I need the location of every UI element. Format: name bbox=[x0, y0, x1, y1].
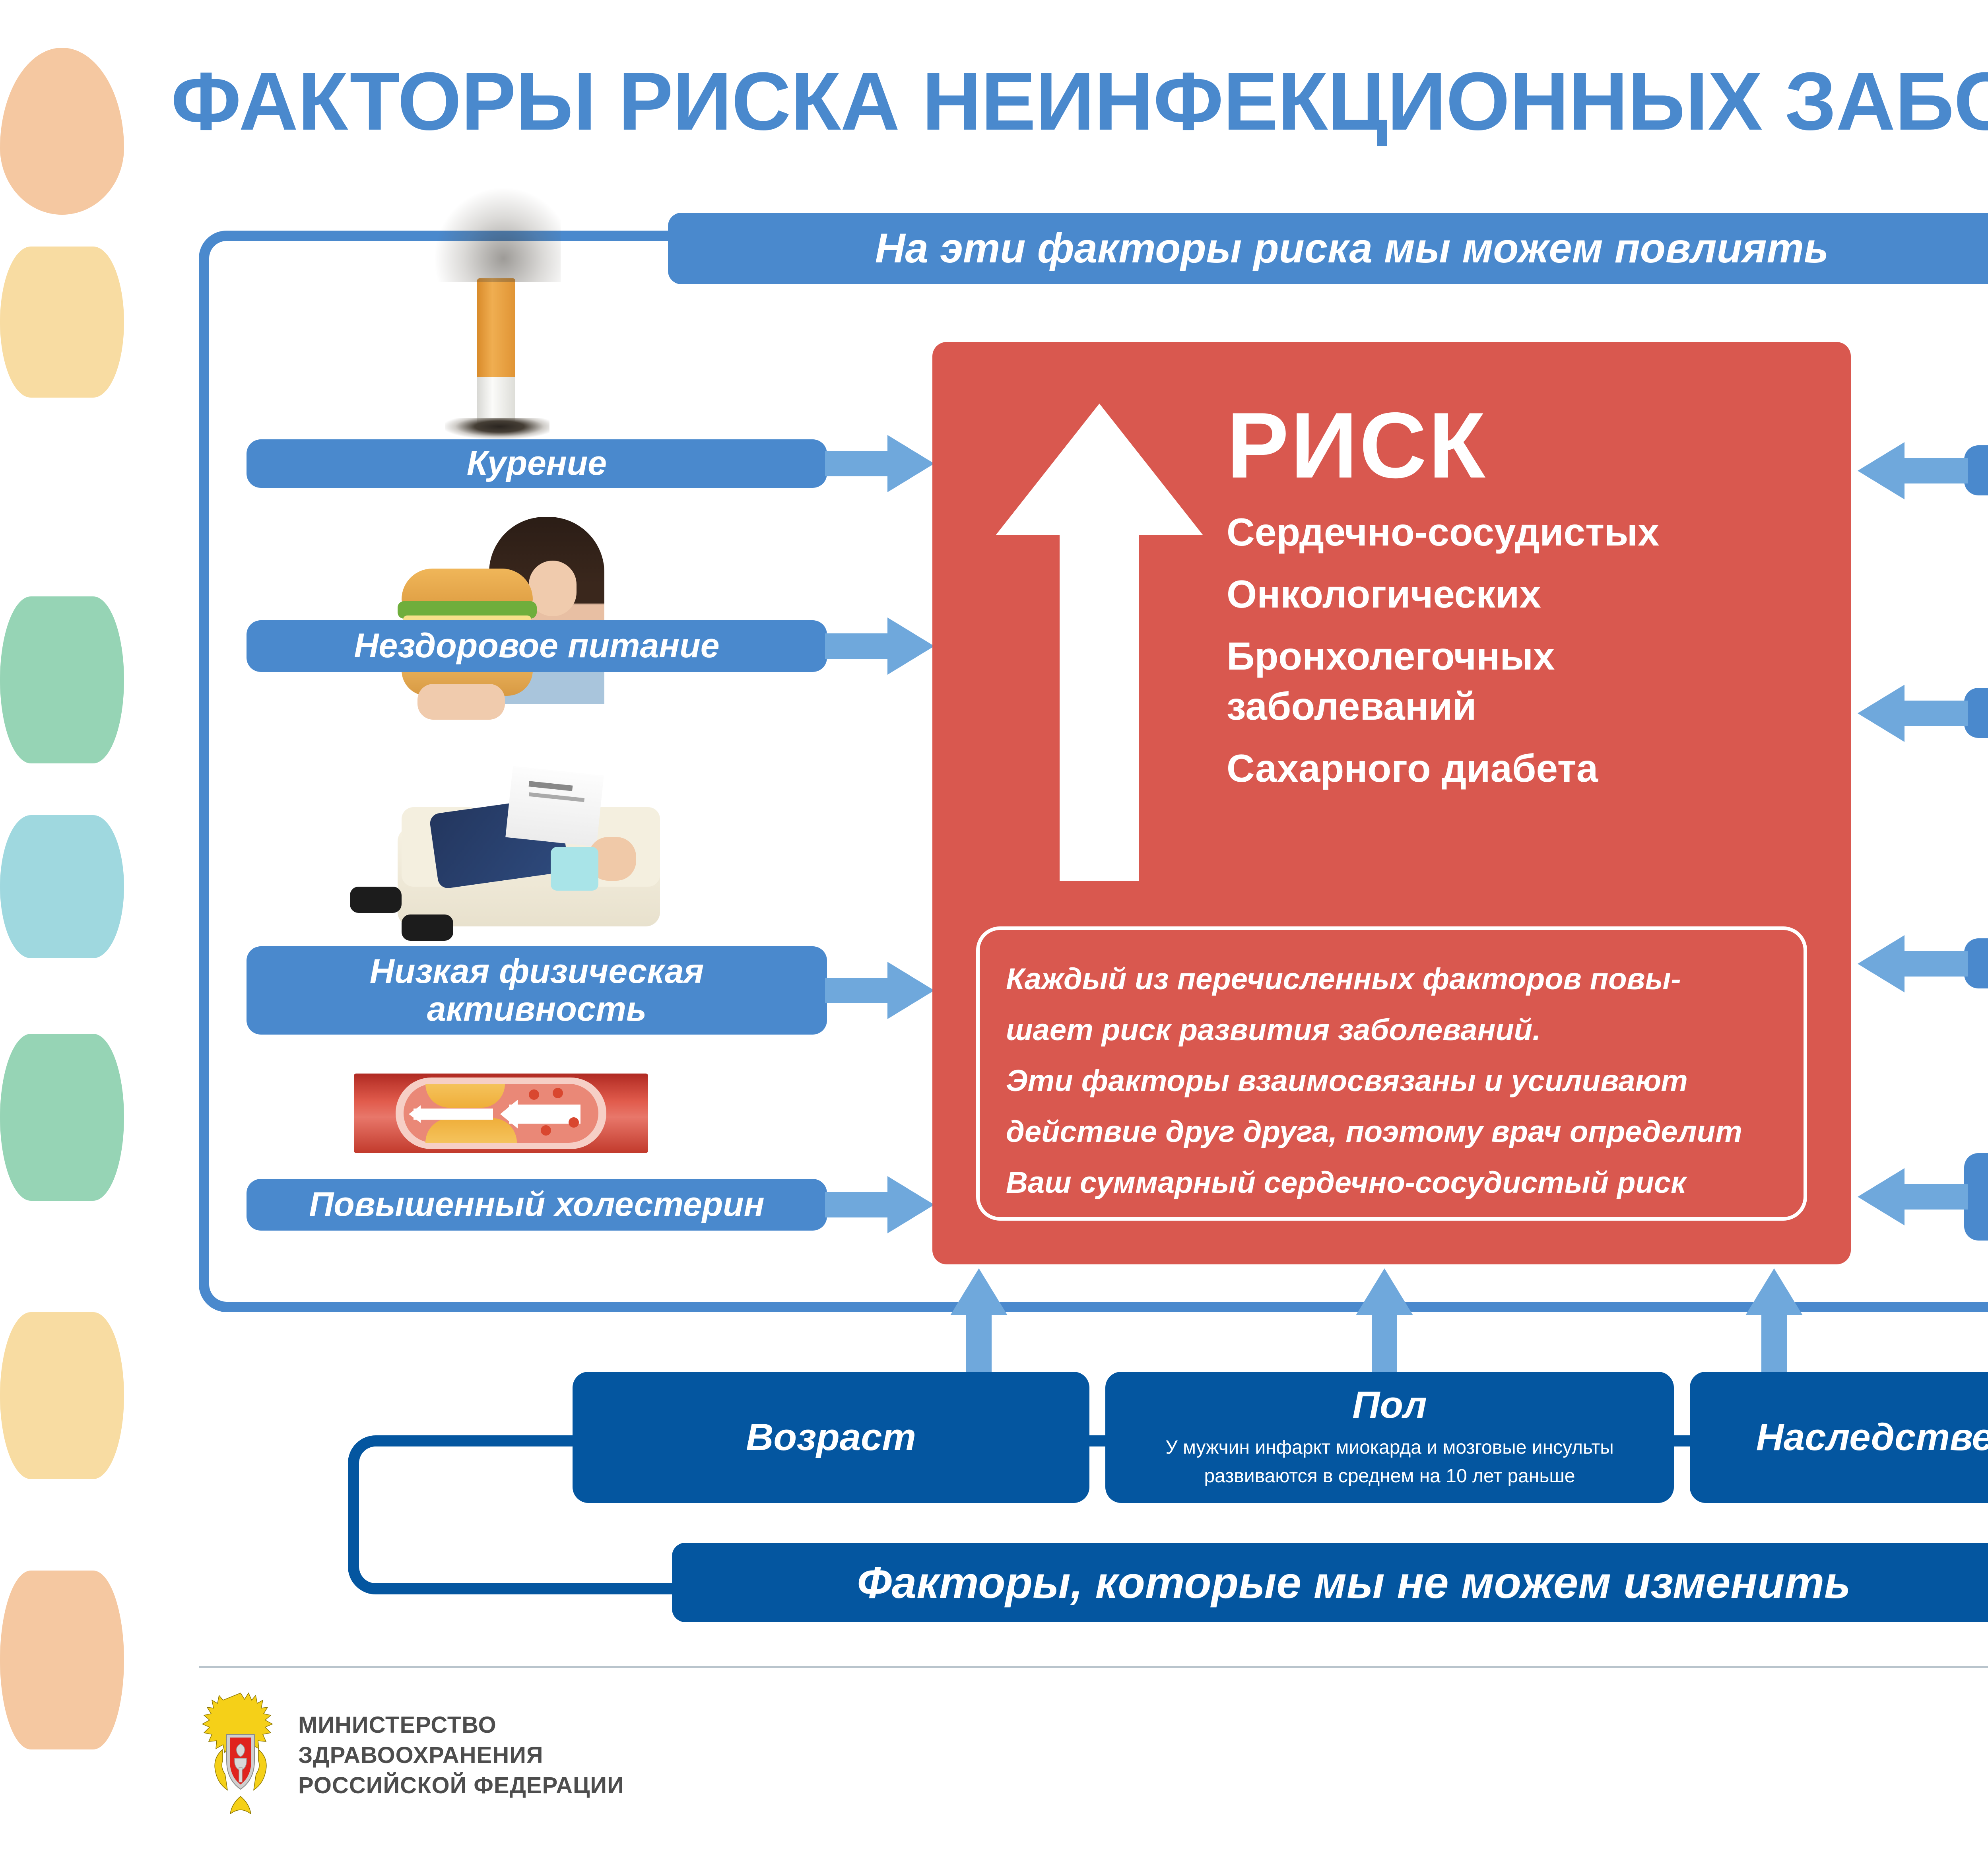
factor-pill-unhealthy-diet[interactable]: Нездоровое питание bbox=[247, 620, 827, 672]
arrow-head-smoking-icon bbox=[887, 435, 934, 492]
arrow-right-low-physical-activity bbox=[825, 978, 889, 1003]
arrow-head-stress-icon bbox=[1858, 685, 1905, 742]
arrow-left-excessive-alcohol bbox=[1905, 1184, 1968, 1210]
arrow-up-sex-icon bbox=[1356, 1268, 1413, 1315]
arrow-up-age-icon bbox=[950, 1268, 1008, 1315]
arrow-head-unhealthy-diet-icon bbox=[887, 617, 934, 675]
ministry-line-1: МИНИСТЕРСТВО bbox=[298, 1710, 624, 1740]
risk-note-line-3: Эти факторы взаимосвязаны и усиливают bbox=[1006, 1056, 1777, 1107]
cigarette-stubbed-out-photo bbox=[461, 278, 533, 445]
arrow-right-smoking bbox=[825, 451, 889, 476]
non-modifiable-title-heredity: Наследственность bbox=[1756, 1416, 1988, 1458]
risk-disease-3: Бронхолегочных bbox=[1227, 631, 1823, 681]
risk-disease-3b: заболеваний bbox=[1227, 681, 1823, 731]
risk-note-line-5: Ваш суммарный сердечно-сосудистый риск bbox=[1006, 1157, 1777, 1208]
arrow-up-heredity-icon bbox=[1745, 1268, 1803, 1315]
russian-ministry-emblem-icon bbox=[199, 1690, 282, 1821]
arrow-head-arterial-hypertension-icon bbox=[1858, 442, 1905, 499]
factor-label-low-physical-activity-line1: Низкая физическая bbox=[370, 953, 704, 990]
banner-non-modifiable: Факторы, которые мы не можем изменить bbox=[672, 1543, 1988, 1622]
ministry-line-3: РОССИЙСКОЙ ФЕДЕРАЦИИ bbox=[298, 1771, 624, 1801]
arrow-up-heredity-shaft bbox=[1761, 1308, 1787, 1380]
arrow-up-age-shaft bbox=[966, 1308, 992, 1380]
risk-heading: РИСК bbox=[1227, 396, 1823, 495]
arrow-left-arterial-hypertension bbox=[1905, 458, 1968, 483]
factor-label-high-cholesterol: Повышенный холестерин bbox=[309, 1186, 764, 1223]
decorative-color-strip bbox=[0, 0, 124, 1860]
arrow-left-stress bbox=[1905, 701, 1968, 726]
factor-label-low-physical-activity-line2: активность bbox=[427, 990, 646, 1028]
up-arrow-icon bbox=[996, 404, 1203, 881]
arrow-right-high-cholesterol bbox=[825, 1192, 889, 1217]
arrow-head-high-cholesterol-icon bbox=[887, 1176, 934, 1233]
non-modifiable-subtitle-sex: У мужчин инфаркт миокарда и мозговые инс… bbox=[1119, 1433, 1660, 1491]
man-lying-on-sofa-reading-newspaper-photo bbox=[342, 767, 700, 946]
non-modifiable-box-age[interactable]: Возраст bbox=[573, 1372, 1089, 1503]
arrow-left-obesity bbox=[1905, 951, 1968, 977]
risk-disease-4: Сахарного диабета bbox=[1227, 743, 1823, 793]
risk-disease-2: Онкологических bbox=[1227, 569, 1823, 619]
risk-note-line-2: шает риск развития заболеваний. bbox=[1006, 1005, 1777, 1056]
arrow-head-low-physical-activity-icon bbox=[887, 962, 934, 1019]
risk-note-line-1: Каждый из перечисленных факторов повы- bbox=[1006, 954, 1777, 1005]
non-modifiable-box-heredity[interactable]: Наследственность bbox=[1690, 1372, 1988, 1503]
risk-note-box: Каждый из перечисленных факторов повы- ш… bbox=[976, 926, 1807, 1221]
ministry-block: МИНИСТЕРСТВО ЗДРАВООХРАНЕНИЯ РОССИЙСКОЙ … bbox=[199, 1690, 624, 1821]
ministry-line-2: ЗДРАВООХРАНЕНИЯ bbox=[298, 1740, 624, 1771]
risk-panel: РИСК Сердечно-сосудистых Онкологических … bbox=[932, 342, 1851, 1264]
woman-eating-burger-photo bbox=[374, 513, 636, 720]
arrow-right-unhealthy-diet bbox=[825, 633, 889, 659]
arrow-head-obesity-icon bbox=[1858, 935, 1905, 992]
factor-label-smoking: Курение bbox=[467, 445, 607, 482]
factor-pill-high-cholesterol[interactable]: Повышенный холестерин bbox=[247, 1179, 827, 1231]
factor-pill-low-physical-activity[interactable]: Низкая физическая активность bbox=[247, 946, 827, 1035]
non-modifiable-box-sex[interactable]: Пол У мужчин инфаркт миокарда и мозговые… bbox=[1105, 1372, 1674, 1503]
factor-pill-smoking[interactable]: Курение bbox=[247, 439, 827, 488]
page-title: ФАКТОРЫ РИСКА НЕИНФЕКЦИОННЫХ ЗАБОЛЕВАНИЙ bbox=[171, 56, 1988, 147]
artery-with-cholesterol-plaque-illustration bbox=[354, 1074, 648, 1153]
factor-label-unhealthy-diet: Нездоровое питание bbox=[354, 628, 719, 664]
risk-note-line-4: действие друг друга, поэтому врач опреде… bbox=[1006, 1107, 1777, 1157]
risk-disease-1: Сердечно-сосудистых bbox=[1227, 507, 1823, 557]
arrow-up-sex-shaft bbox=[1372, 1308, 1397, 1380]
non-modifiable-title-sex: Пол bbox=[1352, 1384, 1427, 1426]
arrow-head-excessive-alcohol-icon bbox=[1858, 1168, 1905, 1225]
footer-divider bbox=[199, 1666, 1988, 1668]
banner-modifiable: На эти факторы риска мы можем повлиять bbox=[668, 213, 1988, 284]
non-modifiable-title-age: Возраст bbox=[746, 1416, 916, 1458]
